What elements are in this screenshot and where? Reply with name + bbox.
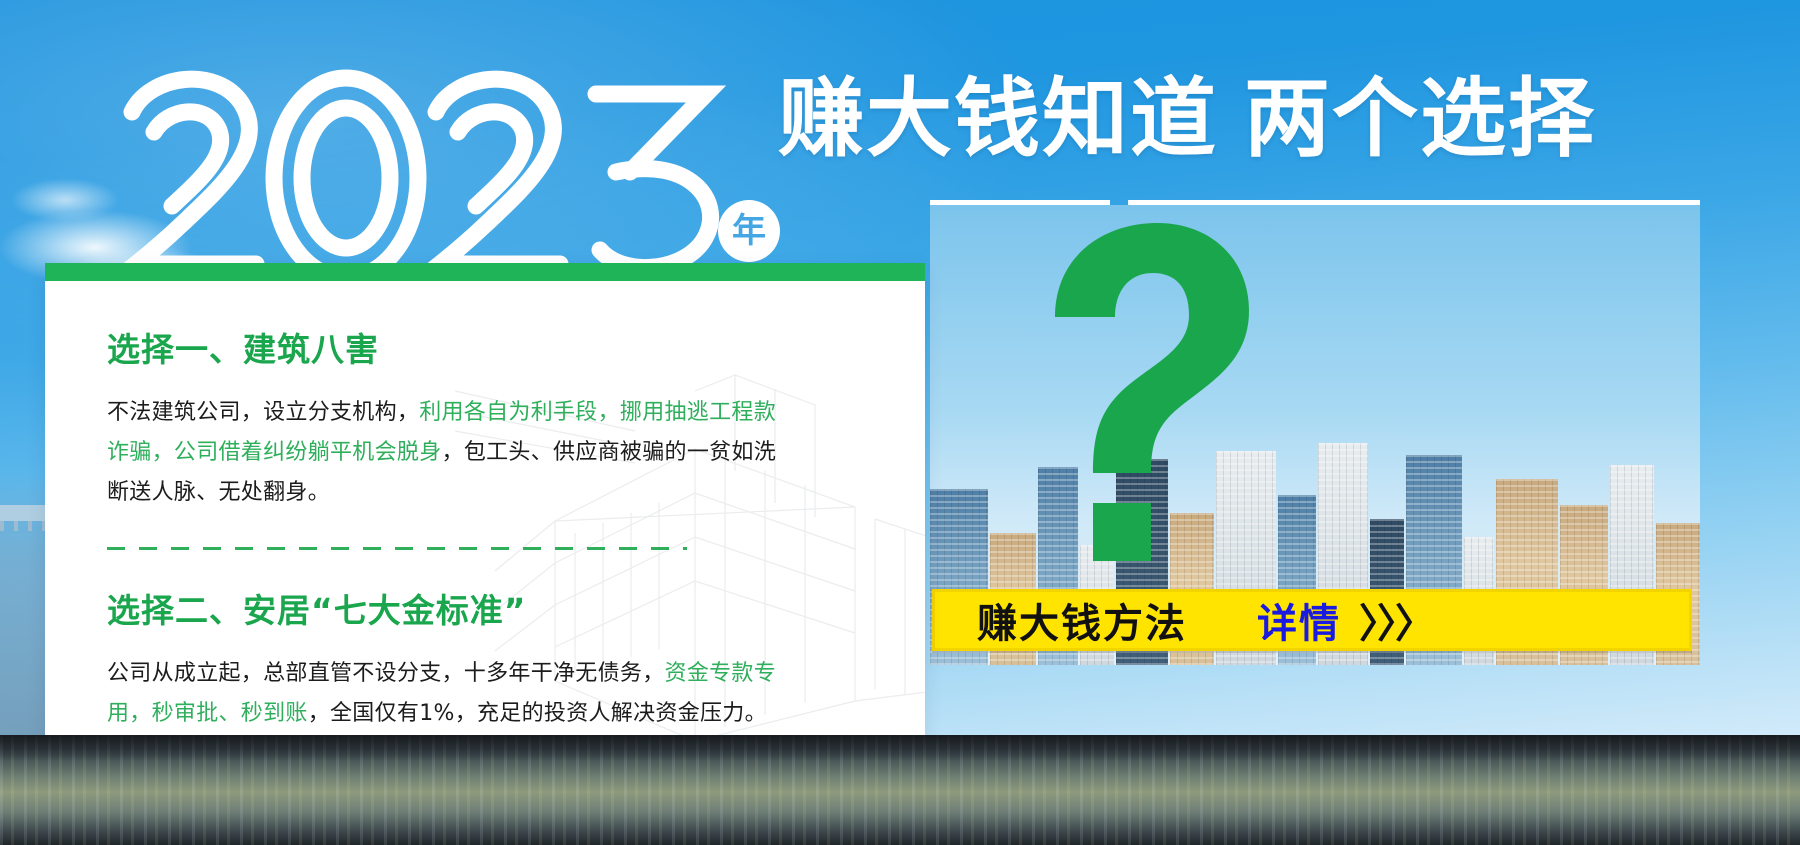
- section-paragraph-1: 不法建筑公司，设立分支机构，利用各自为利手段，挪用抽逃工程款诈骗，公司借着纠纷躺…: [107, 393, 797, 513]
- poster-canvas: 年 赚大钱知道两个选择 TWO choices: [0, 0, 1800, 845]
- page-title: 赚大钱知道两个选择: [778, 74, 1596, 164]
- cta-link[interactable]: 详情: [1257, 591, 1341, 649]
- text-run: ，全国仅有1%，充足的投资人解决资金压力。: [308, 701, 767, 726]
- section-paragraph-2: 公司从成立起，总部直管不设分支，十多年干净无债务，资金专款专用，秒审批、秒到账，…: [107, 654, 797, 734]
- headline-part-1: 赚大钱知道: [778, 69, 1218, 169]
- card-body: 选择一、建筑八害 不法建筑公司，设立分支机构，利用各自为利手段，挪用抽逃工程款诈…: [107, 323, 867, 734]
- text-run: 公司从成立起，总部直管不设分支，十多年干净无债务，: [107, 661, 665, 686]
- chevron-right-icon: 〉〉〉: [1359, 591, 1433, 649]
- section-divider: [107, 547, 687, 550]
- section-title-1: 选择一、建筑八害: [107, 323, 867, 371]
- year-2023-graphic: [110, 60, 730, 280]
- year-unit-badge: 年: [718, 200, 780, 262]
- text-run: 不法建筑公司，设立分支机构，: [107, 400, 419, 425]
- section-title-2: 选择二、安居“七大金标准”: [107, 584, 867, 632]
- card-inner: 选择一、建筑八害 不法建筑公司，设立分支机构，利用各自为利手段，挪用抽逃工程款诈…: [45, 281, 925, 740]
- content-card: 选择一、建筑八害 不法建筑公司，设立分支机构，利用各自为利手段，挪用抽逃工程款诈…: [45, 263, 925, 740]
- cta-banner[interactable]: 赚大钱方法 详情 〉〉〉: [932, 589, 1692, 651]
- headline-part-2: 两个选择: [1244, 69, 1596, 169]
- card-accent-bar: [45, 263, 925, 281]
- cta-label: 赚大钱方法: [977, 591, 1187, 649]
- bottom-reflection-strip: [0, 735, 1800, 845]
